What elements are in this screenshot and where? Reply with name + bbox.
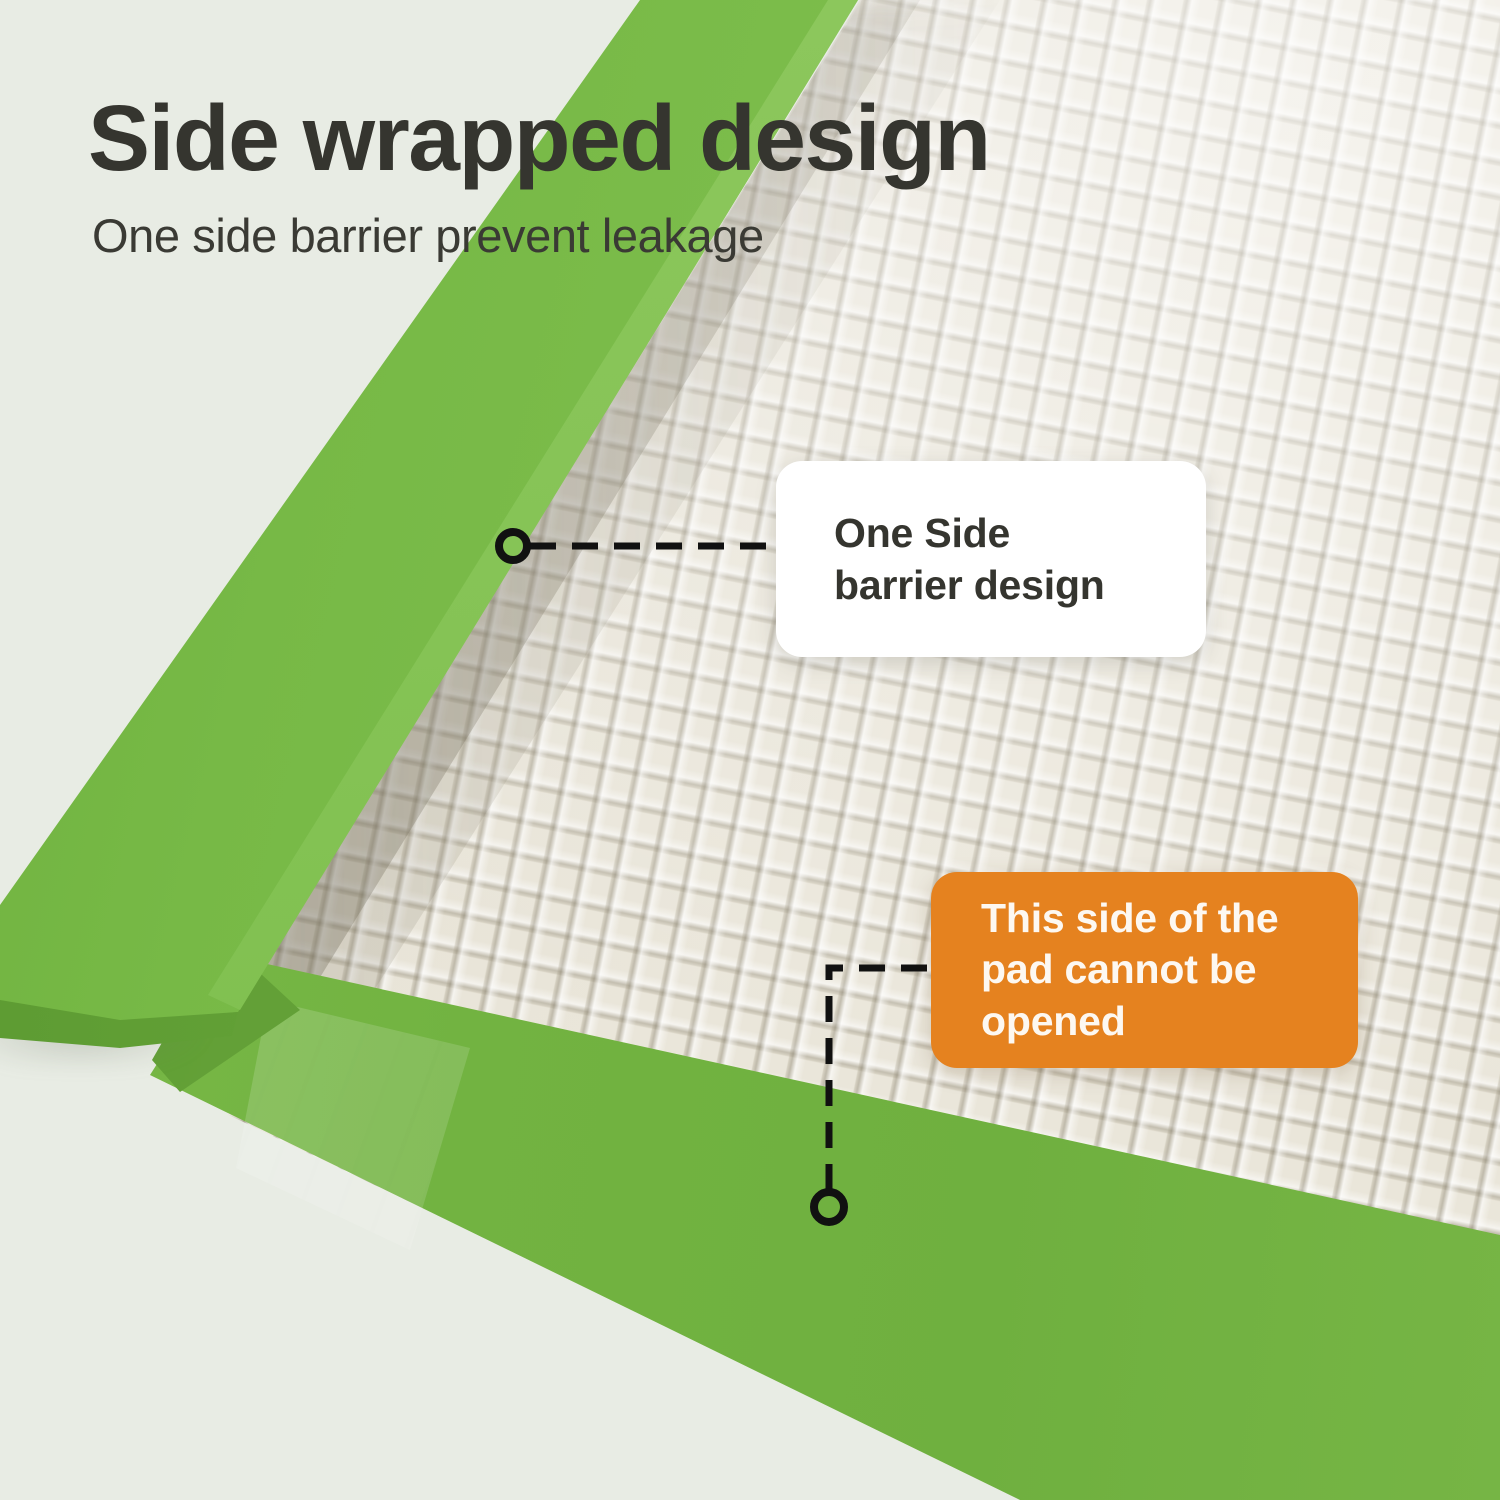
infographic-canvas: Side wrapped design One side barrier pre… bbox=[0, 0, 1500, 1500]
callout-cannot-be-opened-text: This side of the pad cannot be opened bbox=[981, 893, 1279, 1047]
callout-cannot-be-opened: This side of the pad cannot be opened bbox=[931, 872, 1358, 1068]
callout-one-side-barrier: One Side barrier design bbox=[776, 461, 1206, 657]
callout-line: barrier design bbox=[834, 562, 1105, 608]
page-subtitle: One side barrier prevent leakage bbox=[92, 212, 764, 259]
callout-line: One Side bbox=[834, 510, 1010, 556]
callout-line: This side of the bbox=[981, 895, 1279, 941]
callout-line: pad cannot be bbox=[981, 946, 1256, 992]
callout-line: opened bbox=[981, 998, 1126, 1044]
page-title: Side wrapped design bbox=[88, 92, 990, 185]
callout-one-side-barrier-text: One Side barrier design bbox=[834, 507, 1105, 612]
